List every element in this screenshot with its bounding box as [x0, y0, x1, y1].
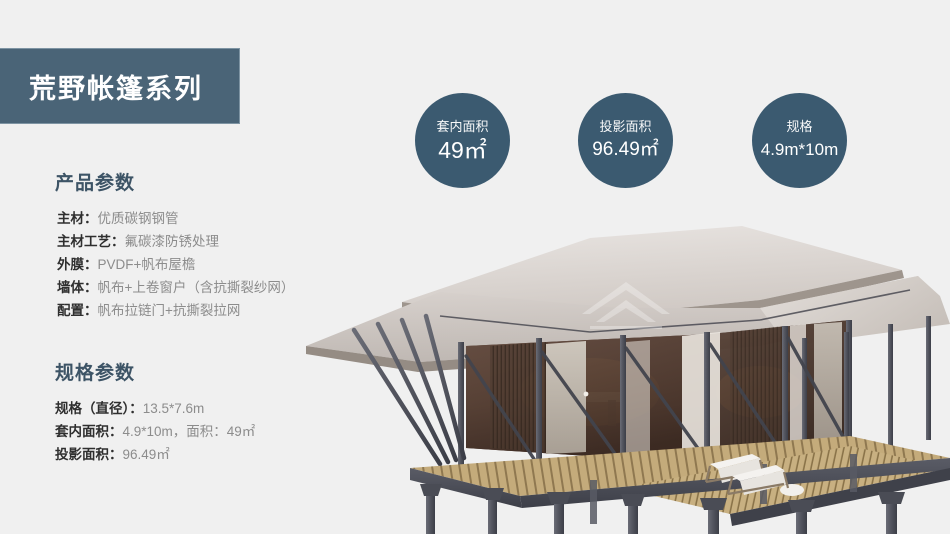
list-item: 外膜：PVDF+帆布屋檐 — [57, 253, 294, 276]
spec-label: 配置： — [57, 303, 98, 318]
list-item: 投影面积：96.49㎡ — [55, 443, 255, 466]
specification-parameters-list: 规格（直径）：13.5*7.6m 套内面积：4.9*10m，面积：49㎡ 投影面… — [55, 397, 255, 466]
spec-value: 4.9*10m，面积：49㎡ — [123, 424, 256, 439]
stat-badge-projected-area: 投影面积 96.49㎡ — [578, 93, 673, 188]
specification-parameters-heading: 规格参数 — [55, 358, 255, 385]
spec-label: 主材工艺： — [57, 234, 125, 249]
tent-villa-illustration — [290, 196, 950, 534]
stat-badge-value: 96.49㎡ — [592, 136, 659, 164]
stat-badge-value: 49㎡ — [438, 136, 487, 164]
sheer-curtain-2 — [626, 340, 650, 456]
spec-value: 优质碳钢钢管 — [98, 211, 179, 226]
list-item: 规格（直径）：13.5*7.6m — [55, 397, 255, 420]
spec-value: 13.5*7.6m — [143, 401, 205, 416]
stat-badge-label: 投影面积 — [599, 118, 651, 135]
list-item: 主材：优质碳钢钢管 — [57, 207, 294, 230]
spec-value: 96.49㎡ — [123, 447, 170, 462]
slide-canvas: 荒野帐篷系列 产品参数 主材：优质碳钢钢管 主材工艺：氟碳漆防锈处理 外膜：PV… — [0, 0, 950, 534]
spec-value: 氟碳漆防锈处理 — [125, 234, 220, 249]
list-item: 主材工艺：氟碳漆防锈处理 — [57, 230, 294, 253]
title-banner: 荒野帐篷系列 — [0, 48, 240, 124]
spec-value: PVDF+帆布屋檐 — [98, 257, 196, 272]
spec-label: 外膜： — [57, 257, 98, 272]
spec-value: 帆布拉链门+抗撕裂拉网 — [98, 303, 241, 318]
product-render-image — [290, 196, 950, 534]
specification-parameters-section: 规格参数 规格（直径）：13.5*7.6m 套内面积：4.9*10m，面积：49… — [55, 358, 255, 466]
spec-label: 规格（直径）： — [55, 401, 143, 416]
stat-badge-interior-area: 套内面积 49㎡ — [415, 93, 510, 188]
list-item: 墙体：帆布+上卷窗户（含抗撕裂纱网） — [57, 276, 294, 299]
spec-label: 墙体： — [57, 280, 98, 295]
list-item: 套内面积：4.9*10m，面积：49㎡ — [55, 420, 255, 443]
canvas-wall-panel — [546, 341, 586, 454]
spec-label: 投影面积： — [55, 447, 123, 462]
stat-badge-value: 4.9m*10m — [761, 136, 838, 164]
product-parameters-heading: 产品参数 — [55, 168, 294, 195]
mesh-screen-panel-2 — [730, 326, 784, 456]
spec-value: 帆布+上卷窗户（含抗撕裂纱网） — [98, 280, 295, 295]
page-title: 荒野帐篷系列 — [29, 67, 203, 106]
door-handle — [584, 392, 589, 397]
spec-label: 主材： — [57, 211, 98, 226]
list-item: 配置：帆布拉链门+抗撕裂拉网 — [57, 299, 294, 322]
stat-badge-label: 套内面积 — [436, 118, 488, 135]
product-parameters-section: 产品参数 主材：优质碳钢钢管 主材工艺：氟碳漆防锈处理 外膜：PVDF+帆布屋檐… — [55, 168, 294, 322]
stat-badge-dimensions: 规格 4.9m*10m — [752, 93, 847, 188]
spec-label: 套内面积： — [55, 424, 123, 439]
stat-badge-label: 规格 — [786, 118, 812, 135]
product-parameters-list: 主材：优质碳钢钢管 主材工艺：氟碳漆防锈处理 外膜：PVDF+帆布屋檐 墙体：帆… — [57, 207, 294, 322]
